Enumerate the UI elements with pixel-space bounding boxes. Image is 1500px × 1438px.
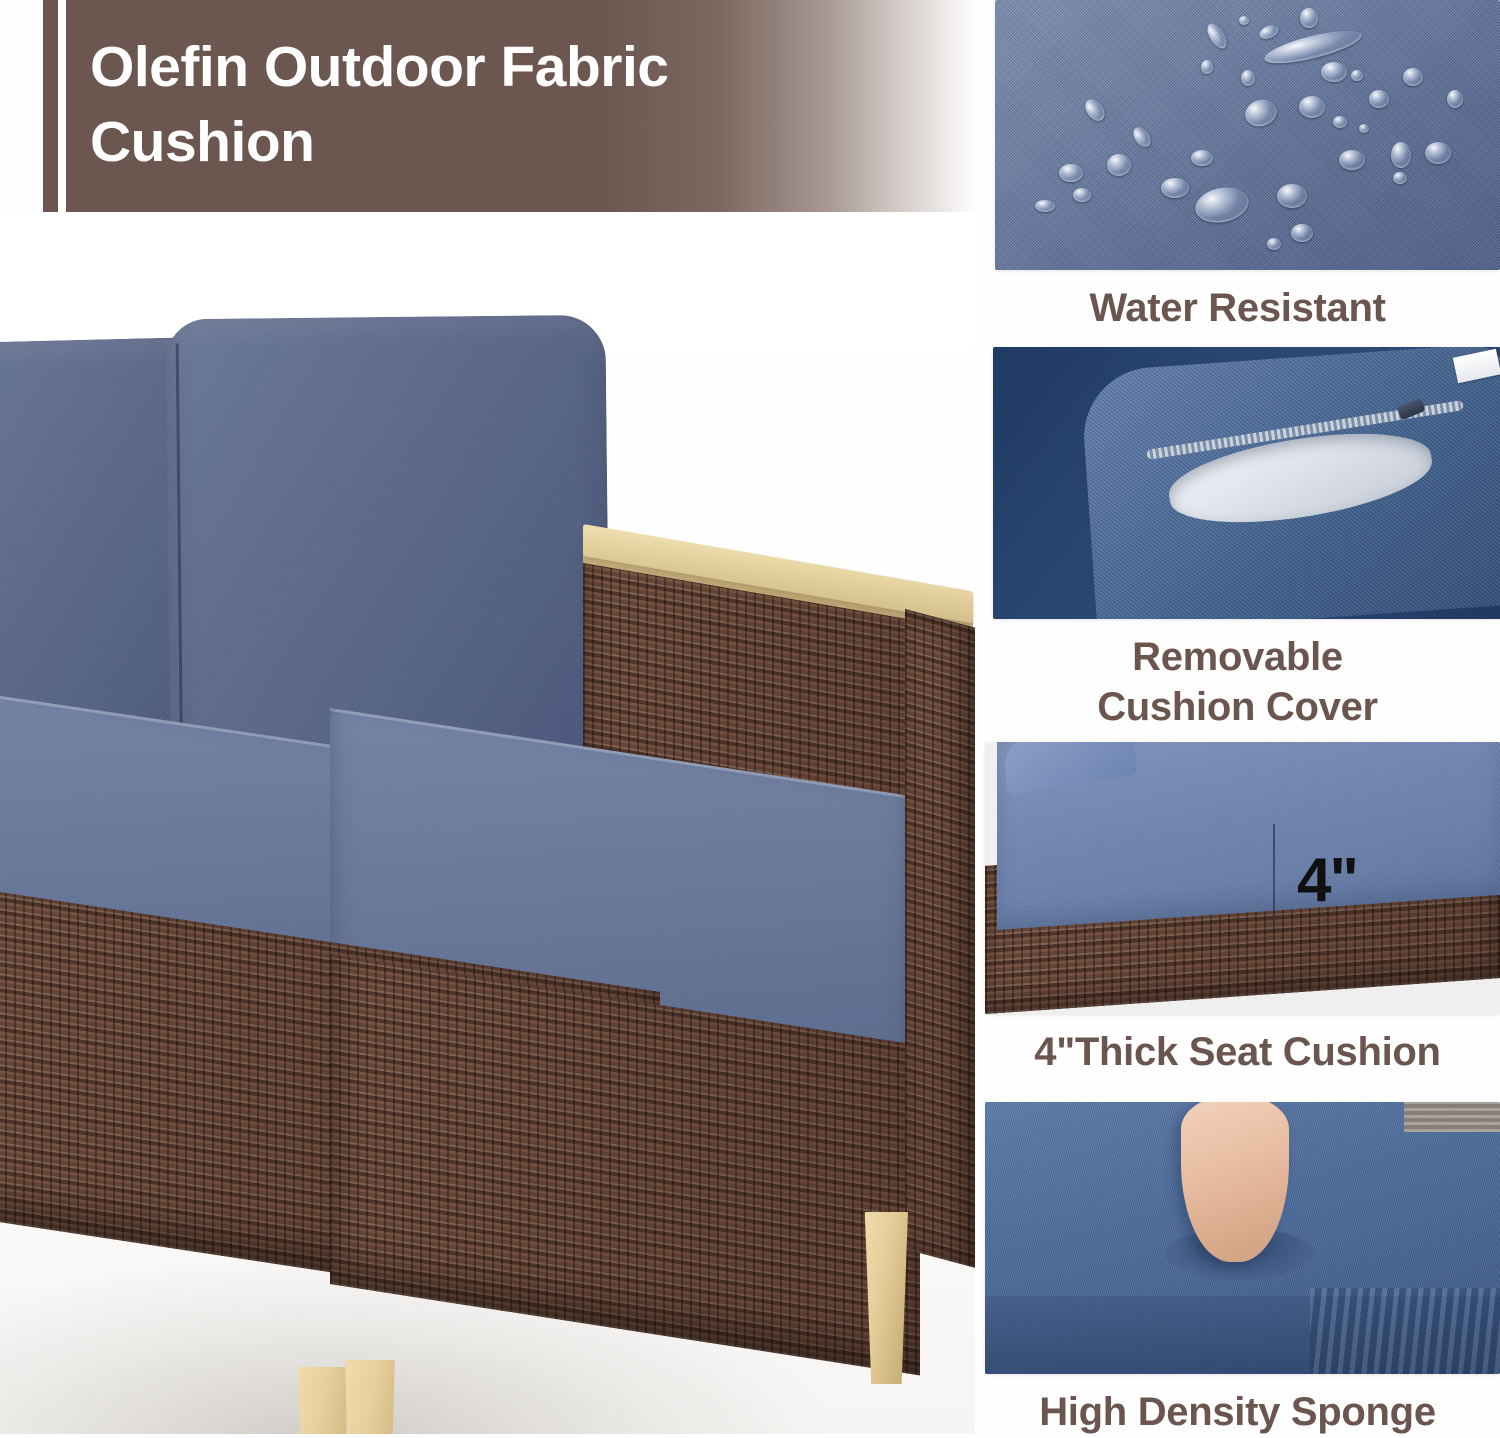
page-title: Olefin Outdoor Fabric Cushion <box>90 30 910 180</box>
feature-block-thick-cushion: 4" 4"Thick Seat Cushion <box>975 742 1500 1078</box>
infographic-canvas: Olefin Outdoor Fabric Cushion <box>0 0 1500 1434</box>
banner-accent-bar <box>43 0 58 212</box>
removable-cover-photo <box>993 347 1500 619</box>
caption-thick-cushion: 4"Thick Seat Cushion <box>975 1014 1500 1078</box>
wicker-corner <box>1404 1102 1500 1132</box>
caption-high-density-sponge: High Density Sponge <box>975 1374 1500 1438</box>
furniture-leg-front-left <box>296 1367 348 1434</box>
thick-cushion-photo: 4" <box>985 742 1500 1014</box>
caption-removable-cover: Removable Cushion Cover <box>975 619 1500 732</box>
water-resistant-photo <box>995 0 1500 270</box>
high-density-sponge-photo <box>985 1102 1500 1374</box>
cushion-pleats <box>1310 1288 1500 1374</box>
feature-block-removable-cover: Removable Cushion Cover <box>975 347 1500 732</box>
feature-column: Water Resistant Removable Cushion Cover … <box>975 0 1500 1434</box>
caption-water-resistant: Water Resistant <box>975 270 1500 334</box>
measurement-line <box>1273 824 1275 929</box>
hero-product-photo <box>0 212 975 1434</box>
thickness-label: 4" <box>1297 850 1357 912</box>
feature-block-high-density: High Density Sponge <box>975 1102 1500 1438</box>
header-banner: Olefin Outdoor Fabric Cushion <box>0 0 975 212</box>
furniture-leg-front-right <box>345 1360 397 1434</box>
backrest-edge <box>1003 742 1137 795</box>
feature-block-water-resistant: Water Resistant <box>975 0 1500 334</box>
armrest-front-face <box>905 609 975 1268</box>
